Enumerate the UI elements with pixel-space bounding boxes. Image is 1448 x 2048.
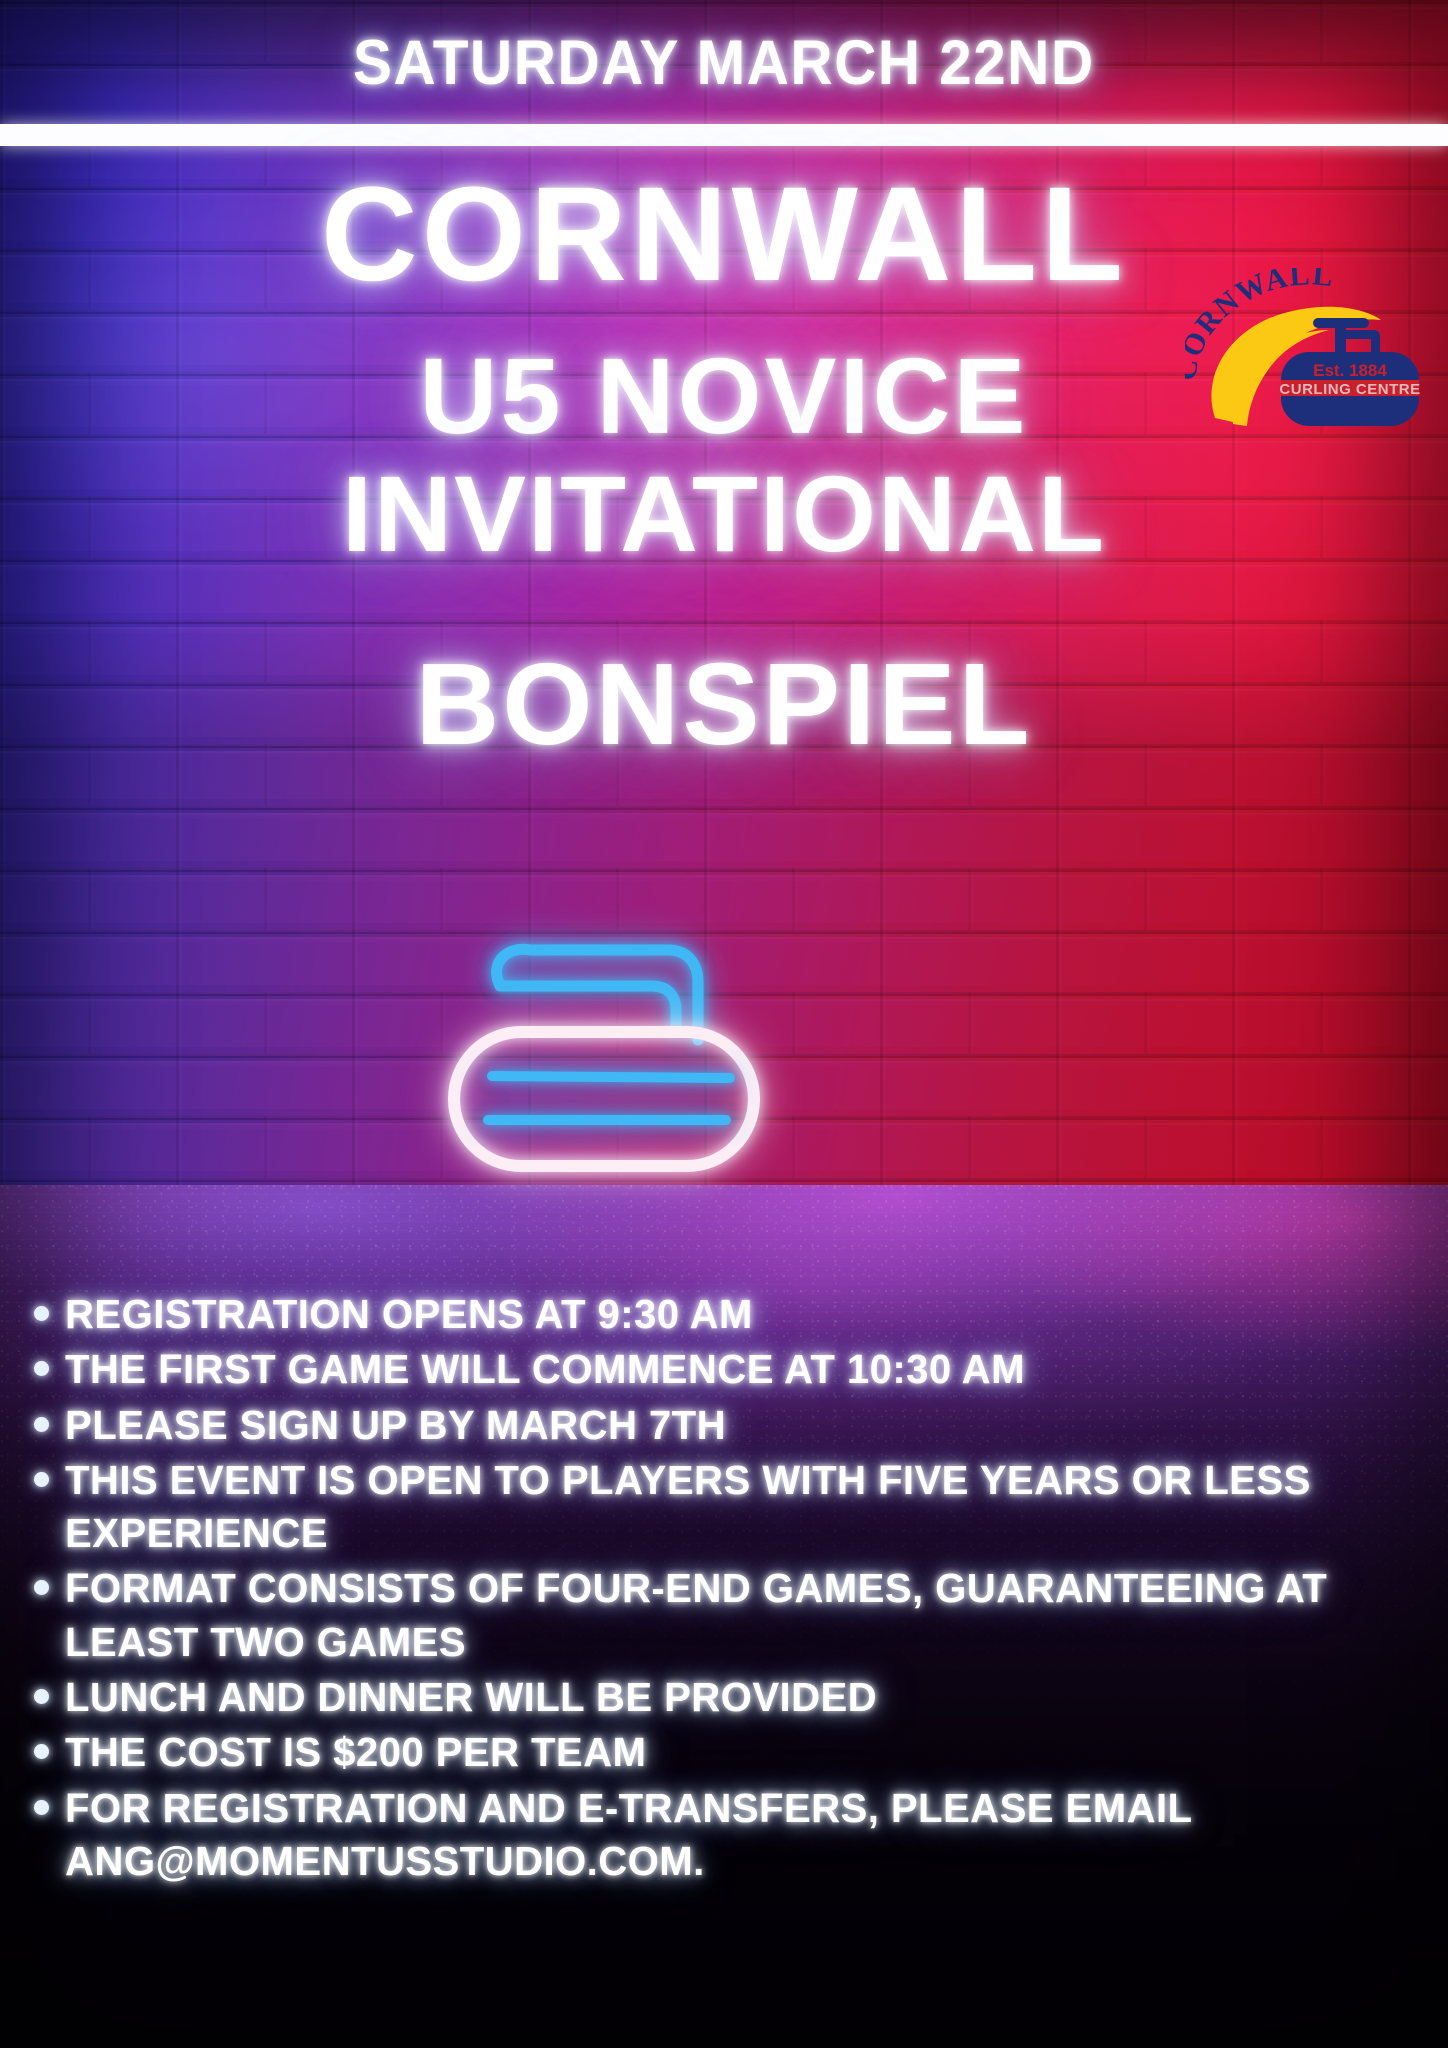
poster-title: CORNWALL U5 NOVICE INVITATIONAL BONSPIEL [0,146,1448,762]
title-line-invitational: INVITATIONAL [0,460,1448,568]
event-date-text: SATURDAY MARCH 22ND [353,27,1095,99]
bullet-dot-icon [34,1417,49,1432]
logo-established-text: Est. 1884 [1313,361,1387,380]
list-item: THE COST IS $200 PER TEAM [34,1726,1434,1779]
list-item: REGISTRATION OPENS AT 9:30 AM [34,1288,1434,1341]
bullet-dot-icon [34,1306,49,1321]
list-item-label: FORMAT CONSISTS OF FOUR-END GAMES, GUARA… [65,1562,1407,1669]
list-item-label: THE COST IS $200 PER TEAM [65,1726,646,1779]
list-item-label: REGISTRATION OPENS AT 9:30 AM [65,1288,753,1341]
list-item-label: PLEASE SIGN UP BY MARCH 7TH [65,1399,726,1452]
bullet-dot-icon [34,1361,49,1376]
cornwall-curling-centre-logo: CORNWALL Est. 1884 CURLING CENTRE [1185,268,1435,438]
bullet-dot-icon [34,1744,49,1759]
stone-body-neon [454,1032,754,1166]
list-item: THIS EVENT IS OPEN TO PLAYERS WITH FIVE … [34,1454,1434,1561]
stone-stripes-neon [488,1076,730,1120]
list-item: THE FIRST GAME WILL COMMENCE AT 10:30 AM [34,1343,1434,1396]
list-item: LUNCH AND DINNER WILL BE PROVIDED [34,1671,1434,1724]
bullet-dot-icon [34,1580,49,1595]
list-item-label: THIS EVENT IS OPEN TO PLAYERS WITH FIVE … [65,1454,1407,1561]
neon-curling-stone-icon [430,920,790,1180]
title-line-bonspiel: BONSPIEL [0,646,1448,762]
bullet-dot-icon [34,1472,49,1487]
list-item: FORMAT CONSISTS OF FOUR-END GAMES, GUARA… [34,1562,1434,1669]
bullet-dot-icon [34,1800,49,1815]
event-poster: SATURDAY MARCH 22ND CORNWALL U5 NOVICE I… [0,0,1448,2048]
list-item-label: THE FIRST GAME WILL COMMENCE AT 10:30 AM [65,1343,1025,1396]
list-item-label: FOR REGISTRATION AND E-TRANSFERS, PLEASE… [65,1782,1407,1889]
list-item: PLEASE SIGN UP BY MARCH 7TH [34,1399,1434,1452]
header-divider-rule [0,124,1448,146]
logo-subtitle-text: CURLING CENTRE [1279,381,1420,398]
date-banner: SATURDAY MARCH 22ND [0,0,1448,125]
list-item: FOR REGISTRATION AND E-TRANSFERS, PLEASE… [34,1782,1434,1889]
event-details-list: REGISTRATION OPENS AT 9:30 AM THE FIRST … [34,1288,1434,1890]
list-item-label: LUNCH AND DINNER WILL BE PROVIDED [65,1671,877,1724]
bullet-dot-icon [34,1689,49,1704]
